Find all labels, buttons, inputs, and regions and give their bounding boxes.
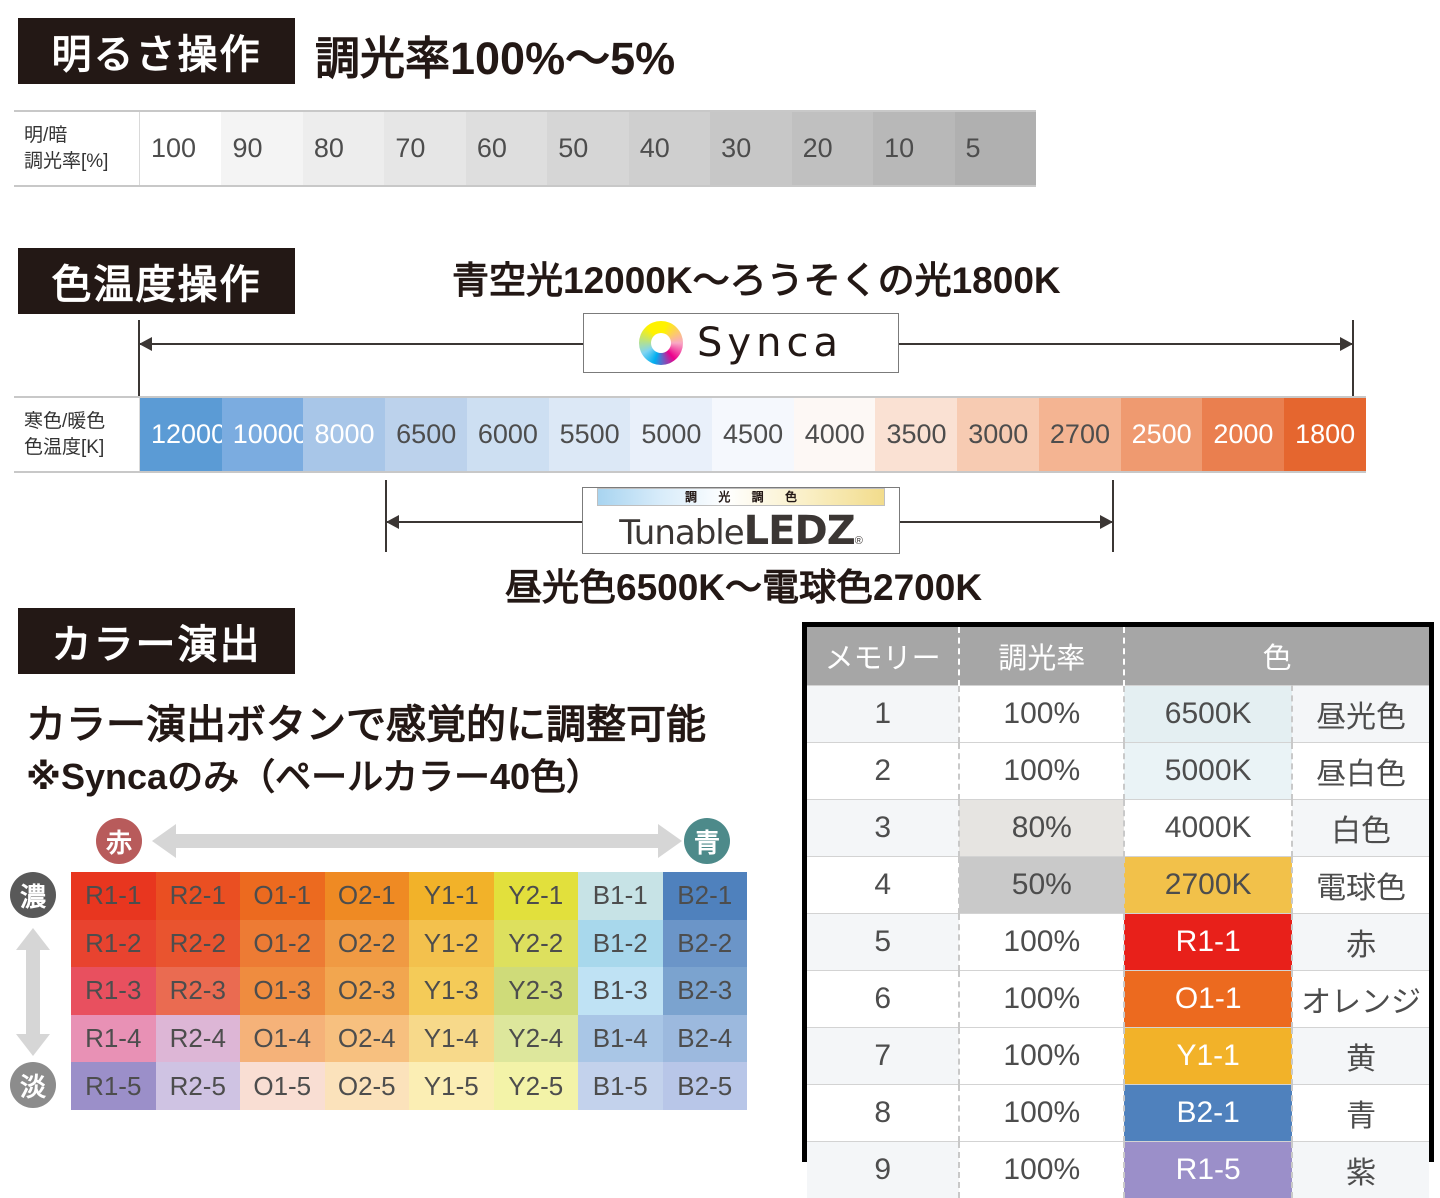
brightness-row-label-line2: 調光率[%] xyxy=(24,149,108,175)
palette-swatch[interactable]: B1-4 xyxy=(578,1015,663,1063)
poster-canvas: 明るさ操作 調光率100%～5% 明/暗 調光率[%] 100908070605… xyxy=(0,0,1440,1174)
colortemp-cell: 8000 xyxy=(303,398,385,471)
cell-memory-no: 6 xyxy=(807,971,959,1028)
arrow-shaft xyxy=(176,834,658,848)
table-row: 380%4000K白色 xyxy=(807,800,1429,857)
ledz-registered-mark: ® xyxy=(855,535,863,547)
palette-swatch[interactable]: R2-3 xyxy=(156,967,241,1015)
palette-swatch[interactable]: R1-5 xyxy=(71,1062,156,1110)
palette-swatch[interactable]: Y1-4 xyxy=(409,1015,494,1063)
colortemp-cell: 6000 xyxy=(467,398,549,471)
palette-swatch[interactable]: Y1-2 xyxy=(409,920,494,968)
colortemp-cell: 5000 xyxy=(630,398,712,471)
brightness-headline: 調光率100%～5% xyxy=(315,22,675,87)
table-row: 5100%R1-1赤 xyxy=(807,914,1429,971)
cell-color-name: 黄 xyxy=(1292,1028,1429,1085)
palette-swatch[interactable]: Y1-3 xyxy=(409,967,494,1015)
tunable-ledz-logo-box: 調 光 調 色 Tunable LEDZ ® xyxy=(582,487,900,554)
ledz-range-line-left xyxy=(386,521,582,523)
palette-swatch[interactable]: R1-2 xyxy=(71,920,156,968)
cell-dimming-rate: 100% xyxy=(959,1085,1124,1142)
ledz-arrow-left-head xyxy=(386,515,399,529)
palette-swatch[interactable]: R2-5 xyxy=(156,1062,241,1110)
colortemp-cell: 4500 xyxy=(712,398,794,471)
synca-arrow-left-head xyxy=(139,337,152,351)
cell-dimming-rate: 100% xyxy=(959,1142,1124,1198)
colortemp-row-label-line1: 寒色/暖色 xyxy=(24,409,105,435)
palette-swatch[interactable]: R1-1 xyxy=(71,872,156,920)
badge-red: 赤 xyxy=(96,818,142,864)
synca-range-line-left xyxy=(139,343,583,345)
table-row: 6100%O1-1オレンジ xyxy=(807,971,1429,1028)
brightness-cell: 5 xyxy=(955,112,1036,185)
colortemp-cell: 2700 xyxy=(1039,398,1121,471)
palette-swatch[interactable]: B2-3 xyxy=(663,967,748,1015)
brightness-scale: 明/暗 調光率[%] 1009080706050403020105 xyxy=(14,110,1036,187)
palette-swatch[interactable]: Y2-3 xyxy=(494,967,579,1015)
color-production-section-tag: カラー演出 xyxy=(18,608,295,674)
colortemp-cell: 3500 xyxy=(875,398,957,471)
cell-color-code: 4000K xyxy=(1124,800,1292,857)
cell-color-code: B2-1 xyxy=(1124,1085,1292,1142)
colortemp-section-tag: 色温度操作 xyxy=(18,248,295,314)
cell-color-name: 赤 xyxy=(1292,914,1429,971)
brightness-cell: 90 xyxy=(221,112,302,185)
palette-swatch[interactable]: O2-5 xyxy=(325,1062,410,1110)
synca-range-line-right xyxy=(899,343,1353,345)
badge-blue: 青 xyxy=(684,818,730,864)
colortemp-row-label: 寒色/暖色 色温度[K] xyxy=(14,398,140,471)
synca-logo-box: Synca xyxy=(583,313,899,373)
palette-swatch[interactable]: Y1-1 xyxy=(409,872,494,920)
cell-color-code: 2700K xyxy=(1124,857,1292,914)
cell-color-code: O1-1 xyxy=(1124,971,1292,1028)
synca-left-tick xyxy=(138,320,140,396)
ledz-range-line-right xyxy=(900,521,1113,523)
ledz-gradient-bar: 調 光 調 色 xyxy=(597,488,885,506)
color-production-line1: カラー演出ボタンで感覚的に調整可能 xyxy=(26,692,706,750)
palette-swatch[interactable]: B1-2 xyxy=(578,920,663,968)
palette-swatch[interactable]: O1-4 xyxy=(240,1015,325,1063)
colortemp-scale: 寒色/暖色 色温度[K] 120001000080006500600055005… xyxy=(14,396,1366,473)
colortemp-cell: 12000 xyxy=(140,398,222,471)
cell-dimming-rate: 100% xyxy=(959,971,1124,1028)
cell-dimming-rate: 100% xyxy=(959,743,1124,800)
brightness-cell: 60 xyxy=(466,112,547,185)
badge-dark: 濃 xyxy=(10,872,56,918)
brightness-cell: 50 xyxy=(547,112,628,185)
cell-dimming-rate: 50% xyxy=(959,857,1124,914)
brightness-cell: 30 xyxy=(710,112,791,185)
colortemp-cell: 4000 xyxy=(794,398,876,471)
palette-swatch[interactable]: B2-4 xyxy=(663,1015,748,1063)
colortemp-cell: 2500 xyxy=(1121,398,1203,471)
arrow-shaft-vertical xyxy=(26,950,40,1034)
brightness-cell: 20 xyxy=(792,112,873,185)
brightness-row-label-line1: 明/暗 xyxy=(24,123,67,149)
red-blue-arrow xyxy=(152,824,682,858)
arrow-right-tip xyxy=(658,824,682,858)
cell-color-name: 白色 xyxy=(1292,800,1429,857)
palette-swatch[interactable]: O1-5 xyxy=(240,1062,325,1110)
cell-memory-no: 2 xyxy=(807,743,959,800)
colortemp-cell: 10000 xyxy=(222,398,304,471)
cell-dimming-rate: 80% xyxy=(959,800,1124,857)
palette-swatch[interactable]: Y2-2 xyxy=(494,920,579,968)
ledz-bar-text: 調 光 調 色 xyxy=(676,488,806,505)
header-color: 色 xyxy=(1124,627,1429,686)
brightness-cell: 80 xyxy=(303,112,384,185)
cell-memory-no: 8 xyxy=(807,1085,959,1142)
color-production-line2: ※Syncaのみ（ペールカラー40色） xyxy=(26,748,602,800)
cell-dimming-rate: 100% xyxy=(959,914,1124,971)
cell-color-code: 6500K xyxy=(1124,686,1292,743)
cell-memory-no: 9 xyxy=(807,1142,959,1198)
memory-table-container: メモリー 調光率 色 1100%6500K昼光色2100%5000K昼白色380… xyxy=(802,622,1434,1162)
colortemp-cell: 6500 xyxy=(385,398,467,471)
colortemp-cell: 5500 xyxy=(549,398,631,471)
cell-color-code: 5000K xyxy=(1124,743,1292,800)
colortemp-row-label-line2: 色温度[K] xyxy=(24,435,104,461)
palette-swatch[interactable]: O1-1 xyxy=(240,872,325,920)
palette-swatch[interactable]: O2-3 xyxy=(325,967,410,1015)
brightness-cell: 10 xyxy=(873,112,954,185)
cell-color-code: Y1-1 xyxy=(1124,1028,1292,1085)
cell-dimming-rate: 100% xyxy=(959,686,1124,743)
table-row: 9100%R1-5紫 xyxy=(807,1142,1429,1198)
palette-swatch[interactable]: B2-1 xyxy=(663,872,748,920)
arrow-left-tip xyxy=(152,824,176,858)
cell-color-code: R1-5 xyxy=(1124,1142,1292,1198)
brightness-cell: 100 xyxy=(140,112,221,185)
cell-memory-no: 1 xyxy=(807,686,959,743)
colortemp-headline: 青空光12000K～ろうそくの光1800K xyxy=(452,250,1061,304)
arrow-down-tip xyxy=(16,1034,50,1056)
synca-right-tick xyxy=(1352,320,1354,396)
brightness-cell: 70 xyxy=(384,112,465,185)
palette-swatch[interactable]: B2-2 xyxy=(663,920,748,968)
palette-swatch[interactable]: Y1-5 xyxy=(409,1062,494,1110)
memory-table-header-row: メモリー 調光率 色 xyxy=(807,627,1429,686)
badge-pale: 淡 xyxy=(10,1062,56,1108)
ledz-arrow-right-head xyxy=(1100,515,1113,529)
table-row: 2100%5000K昼白色 xyxy=(807,743,1429,800)
cell-dimming-rate: 100% xyxy=(959,1028,1124,1085)
table-row: 8100%B2-1青 xyxy=(807,1085,1429,1142)
palette-swatch[interactable]: R2-1 xyxy=(156,872,241,920)
palette-swatch[interactable]: O1-3 xyxy=(240,967,325,1015)
palette-swatch[interactable]: O2-1 xyxy=(325,872,410,920)
palette-swatch[interactable]: B1-1 xyxy=(578,872,663,920)
brightness-section-tag: 明るさ操作 xyxy=(18,18,295,84)
brightness-row-label: 明/暗 調光率[%] xyxy=(14,112,140,185)
palette-swatch[interactable]: R2-4 xyxy=(156,1015,241,1063)
brightness-cell: 40 xyxy=(629,112,710,185)
palette-swatch[interactable]: Y2-1 xyxy=(494,872,579,920)
cell-color-name: オレンジ xyxy=(1292,971,1429,1028)
cell-color-code: R1-1 xyxy=(1124,914,1292,971)
colortemp-cell: 3000 xyxy=(957,398,1039,471)
palette-swatch[interactable]: O1-2 xyxy=(240,920,325,968)
header-memory: メモリー xyxy=(807,627,959,686)
colortemp-cell: 2000 xyxy=(1202,398,1284,471)
cell-memory-no: 5 xyxy=(807,914,959,971)
cell-color-name: 昼光色 xyxy=(1292,686,1429,743)
header-dimming: 調光率 xyxy=(959,627,1124,686)
synca-logo-text: Synca xyxy=(697,320,843,366)
palette-swatch[interactable]: B1-5 xyxy=(578,1062,663,1110)
colortemp-bottom-caption: 昼光色6500K～電球色2700K xyxy=(505,557,982,611)
palette-swatch[interactable]: Y2-5 xyxy=(494,1062,579,1110)
palette-swatch[interactable]: Y2-4 xyxy=(494,1015,579,1063)
ledz-word-tunable: Tunable xyxy=(619,513,743,553)
palette-swatch[interactable]: O2-4 xyxy=(325,1015,410,1063)
cell-memory-no: 7 xyxy=(807,1028,959,1085)
cell-memory-no: 4 xyxy=(807,857,959,914)
palette-swatch[interactable]: R1-4 xyxy=(71,1015,156,1063)
table-row: 1100%6500K昼光色 xyxy=(807,686,1429,743)
cell-memory-no: 3 xyxy=(807,800,959,857)
palette-swatch[interactable]: O2-2 xyxy=(325,920,410,968)
color-palette-grid: R1-1R2-1O1-1O2-1Y1-1Y2-1B1-1B2-1R1-2R2-2… xyxy=(71,872,747,1110)
synca-ring-icon xyxy=(639,321,683,365)
cell-color-name: 昼白色 xyxy=(1292,743,1429,800)
dark-pale-arrow xyxy=(16,928,50,1056)
table-row: 450%2700K電球色 xyxy=(807,857,1429,914)
palette-swatch[interactable]: B2-5 xyxy=(663,1062,748,1110)
synca-arrow-right-head xyxy=(1340,337,1353,351)
ledz-word-ledz: LEDZ xyxy=(744,508,855,554)
cell-color-name: 電球色 xyxy=(1292,857,1429,914)
arrow-up-tip xyxy=(16,928,50,950)
palette-swatch[interactable]: R2-2 xyxy=(156,920,241,968)
palette-swatch[interactable]: B1-3 xyxy=(578,967,663,1015)
memory-table: メモリー 調光率 色 1100%6500K昼光色2100%5000K昼白色380… xyxy=(807,627,1429,1198)
palette-swatch[interactable]: R1-3 xyxy=(71,967,156,1015)
colortemp-cell: 1800 xyxy=(1284,398,1366,471)
cell-color-name: 青 xyxy=(1292,1085,1429,1142)
cell-color-name: 紫 xyxy=(1292,1142,1429,1198)
table-row: 7100%Y1-1黄 xyxy=(807,1028,1429,1085)
